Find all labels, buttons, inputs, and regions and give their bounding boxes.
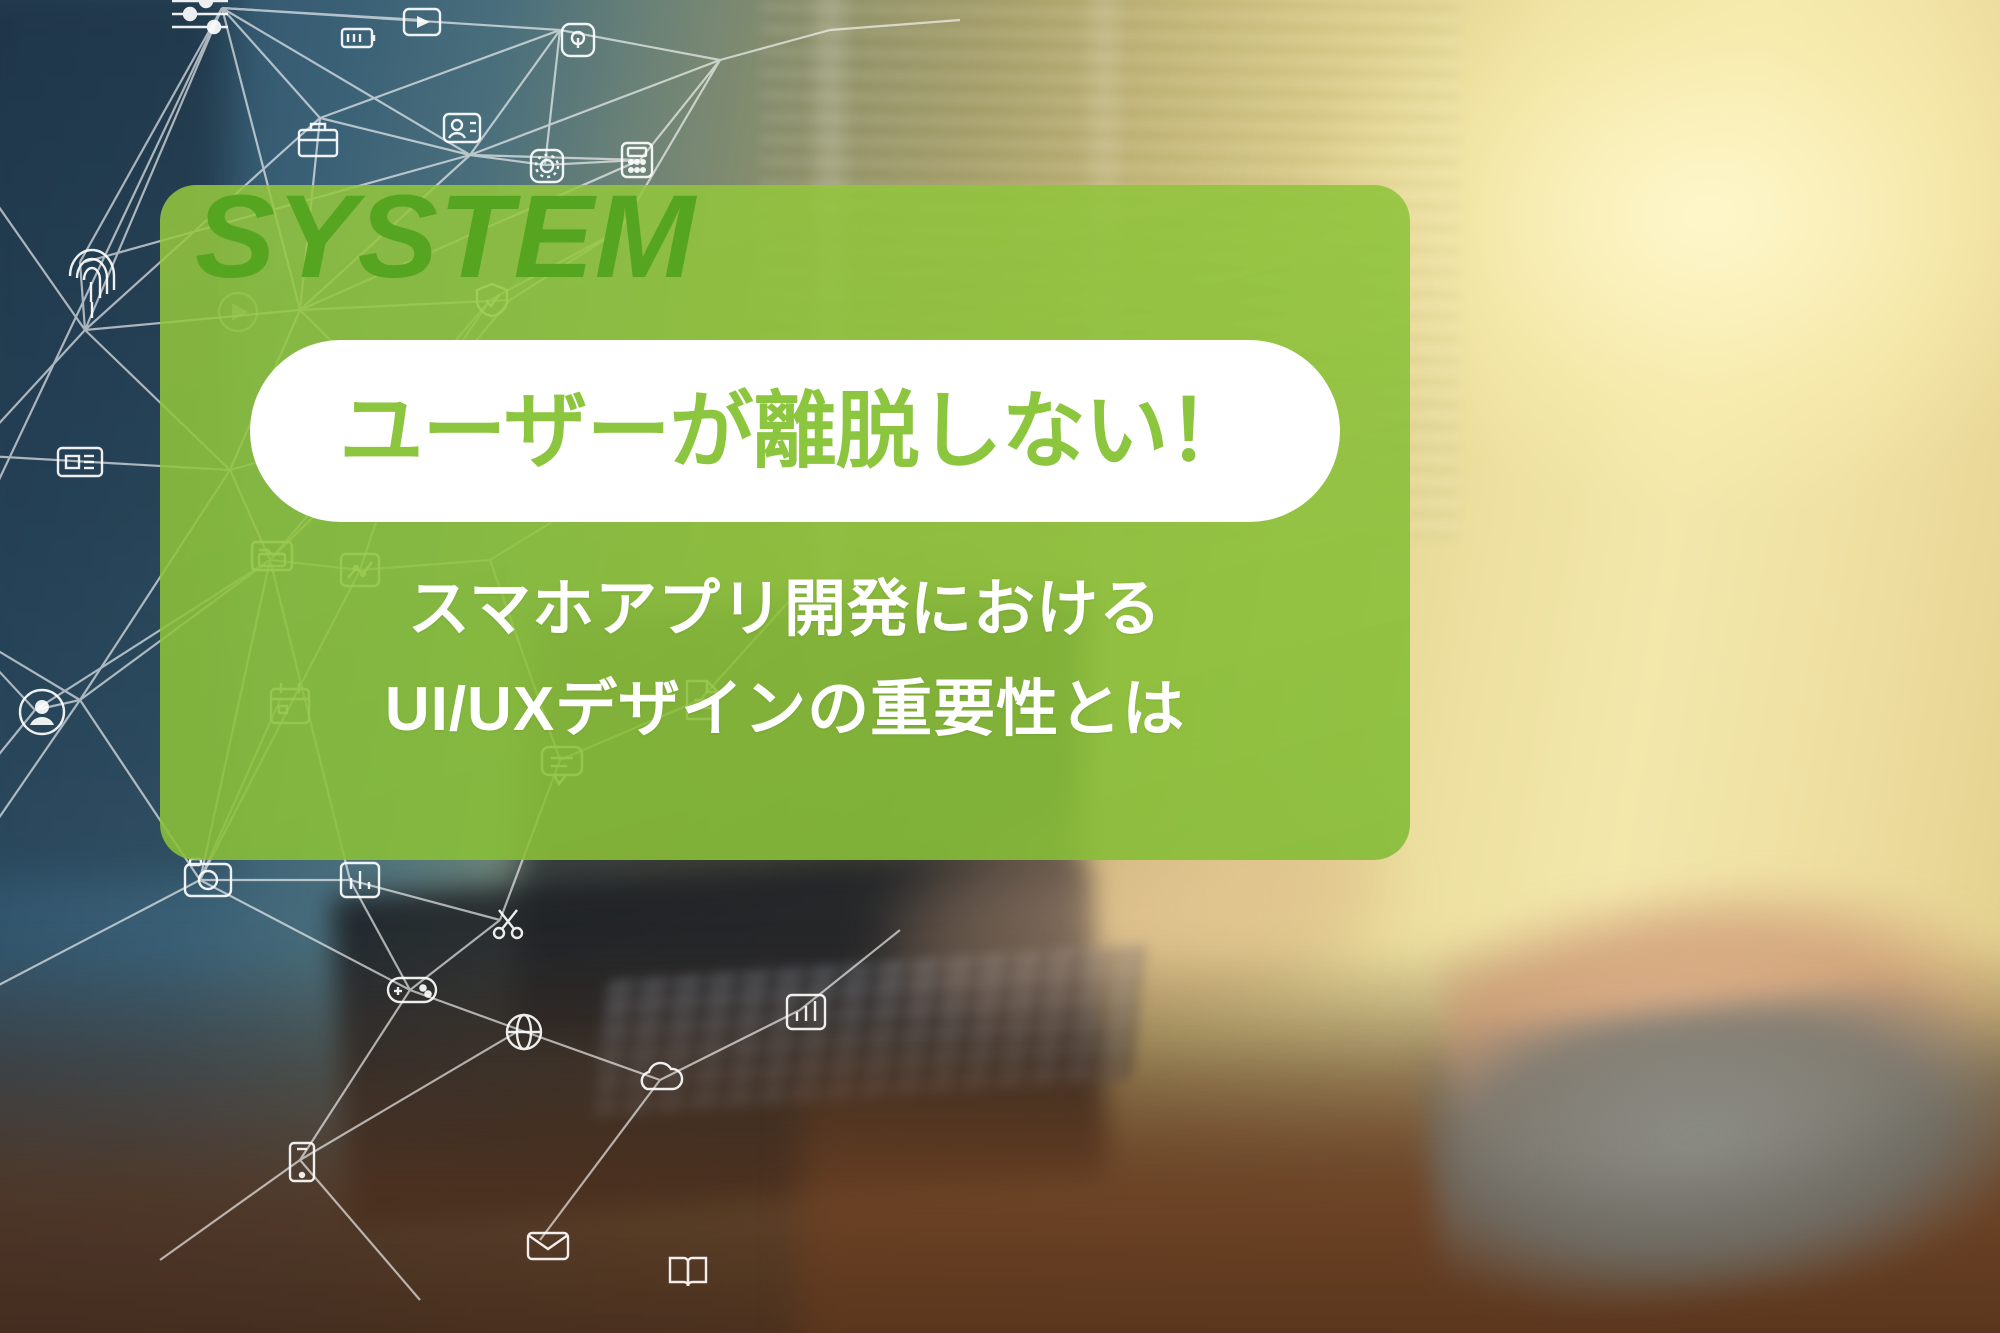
briefcase-icon <box>299 124 337 156</box>
subtitle-line-2: UI/UXデザインの重要性とは <box>160 660 1410 760</box>
headline-pill: ユーザーが離脱しない！ <box>250 340 1340 522</box>
headline-text: ユーザーが離脱しない！ <box>339 389 1250 473</box>
location-pin-icon <box>562 24 594 56</box>
subtitle-block: スマホアプリ開発における UI/UXデザインの重要性とは <box>160 560 1410 761</box>
user-circle-icon <box>20 690 64 734</box>
battery-icon <box>342 29 374 47</box>
bar-chart-up-icon <box>787 995 825 1029</box>
sliders-icon <box>172 0 228 33</box>
globe-icon <box>507 1015 541 1049</box>
camera-icon <box>185 859 231 896</box>
subtitle-line-1: スマホアプリ開発における <box>160 560 1410 660</box>
user-card-icon <box>444 114 480 142</box>
book-icon <box>670 1258 706 1286</box>
banner-root: SYSTEM ユーザーが離脱しない！ スマホアプリ開発における UI/UXデザイ… <box>0 0 2000 1333</box>
scissors-icon <box>494 910 522 938</box>
eyebrow-wordmark: SYSTEM <box>195 178 696 296</box>
mail-icon <box>528 1233 568 1259</box>
